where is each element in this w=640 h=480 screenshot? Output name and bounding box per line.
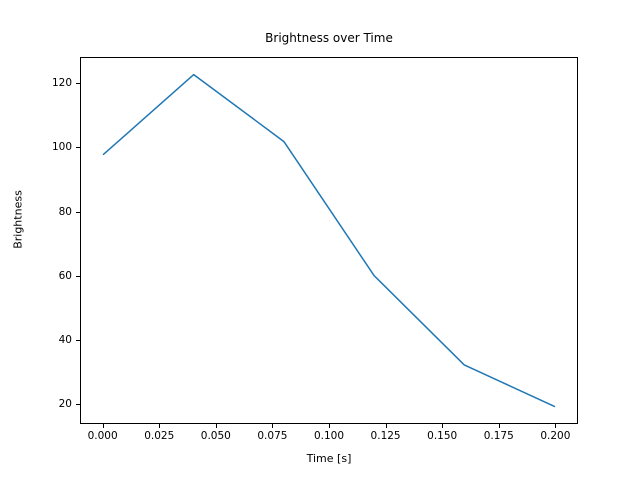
x-tick-label: 0.100 — [299, 430, 359, 442]
series-line-brightness — [104, 75, 555, 407]
y-tick-mark — [76, 212, 80, 213]
y-tick-label: 40 — [32, 334, 72, 346]
x-tick-mark — [159, 424, 160, 428]
x-tick-mark — [555, 424, 556, 428]
chart-title: Brightness over Time — [80, 31, 578, 45]
y-tick-mark — [76, 340, 80, 341]
x-tick-mark — [499, 424, 500, 428]
y-tick-label: 80 — [32, 206, 72, 218]
y-tick-mark — [76, 404, 80, 405]
x-tick-label: 0.025 — [129, 430, 189, 442]
y-tick-label: 60 — [32, 270, 72, 282]
x-tick-mark — [386, 424, 387, 428]
x-tick-mark — [103, 424, 104, 428]
line-series-svg — [81, 58, 577, 423]
y-tick-mark — [76, 83, 80, 84]
x-tick-mark — [272, 424, 273, 428]
y-tick-mark — [76, 276, 80, 277]
y-tick-label: 100 — [32, 141, 72, 153]
x-tick-mark — [442, 424, 443, 428]
x-axis-label: Time [s] — [80, 452, 578, 465]
x-tick-label: 0.050 — [186, 430, 246, 442]
x-tick-label: 0.125 — [356, 430, 416, 442]
x-tick-label: 0.150 — [412, 430, 472, 442]
y-tick-label: 120 — [32, 77, 72, 89]
figure-canvas: Brightness over Time 20406080100120 0.00… — [0, 0, 640, 480]
y-tick-label: 20 — [32, 398, 72, 410]
y-axis-label: Brightness — [12, 140, 25, 300]
y-tick-mark — [76, 147, 80, 148]
x-tick-label: 0.000 — [73, 430, 133, 442]
plot-area — [80, 57, 578, 424]
x-tick-mark — [216, 424, 217, 428]
x-tick-label: 0.075 — [242, 430, 302, 442]
x-tick-label: 0.200 — [525, 430, 585, 442]
x-tick-label: 0.175 — [469, 430, 529, 442]
x-tick-mark — [329, 424, 330, 428]
